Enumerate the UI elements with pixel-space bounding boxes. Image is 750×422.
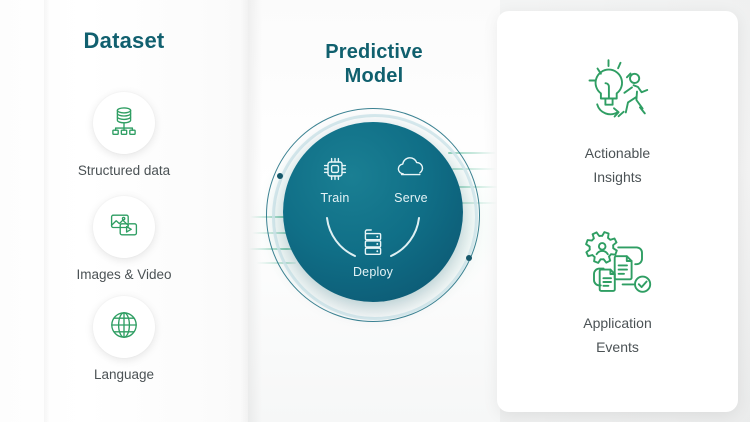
outcome-label-line2: Events <box>497 335 738 359</box>
dataset-item-language[interactable]: Language <box>0 296 248 382</box>
globe-icon <box>107 308 141 347</box>
dataset-item-label: Language <box>0 367 248 382</box>
outcome-label-line1: Application <box>583 315 652 331</box>
dataset-item-structured-data[interactable]: Structured data <box>0 92 248 178</box>
dataset-panel: Dataset Structured data <box>0 0 248 422</box>
outcome-item-label: Actionable Insights <box>497 141 738 189</box>
predictive-model-circle: Train Serve <box>283 122 463 302</box>
lifecycle-stage-deploy[interactable]: Deploy <box>341 226 405 279</box>
predictive-model-title-line2: Model <box>248 64 500 88</box>
outcome-item-application-events[interactable]: Application Events <box>497 219 738 359</box>
cloud-icon <box>394 171 428 188</box>
lifecycle-stage-train[interactable]: Train <box>303 154 367 205</box>
outcome-icon-wrap <box>497 219 738 311</box>
dataset-panel-title: Dataset <box>0 28 248 54</box>
database-icon <box>107 104 141 143</box>
server-stack-icon <box>358 245 388 262</box>
lifecycle-stage-label: Serve <box>379 191 443 205</box>
lifecycle-stage-serve[interactable]: Serve <box>379 154 443 205</box>
dataset-item-icon-badge <box>93 296 155 358</box>
dataset-item-label: Images & Video <box>0 267 248 282</box>
dataset-item-icon-badge <box>93 196 155 258</box>
predictive-model-title: Predictive Model <box>248 40 500 89</box>
cpu-chip-icon <box>320 171 350 188</box>
ring-marker-dot <box>466 255 472 261</box>
lightbulb-running-person-icon <box>575 54 661 137</box>
predictive-model-title-line1: Predictive <box>325 41 423 63</box>
outcome-icon-wrap <box>497 49 738 141</box>
outcome-item-label: Application Events <box>497 311 738 359</box>
dataset-item-icon-badge <box>93 92 155 154</box>
diagram-canvas: Dataset Structured data <box>0 0 750 422</box>
outcome-item-actionable-insights[interactable]: Actionable Insights <box>497 49 738 189</box>
lifecycle-stage-label: Deploy <box>341 265 405 279</box>
dataset-item-images-video[interactable]: Images & Video <box>0 196 248 282</box>
images-video-icon <box>107 208 141 247</box>
lifecycle-stage-label: Train <box>303 191 367 205</box>
outcome-label-line1: Actionable <box>585 145 650 161</box>
outcome-label-line2: Insights <box>497 165 738 189</box>
gear-documents-check-icon <box>572 224 664 307</box>
outcomes-card: Actionable Insights <box>497 11 738 412</box>
dataset-item-label: Structured data <box>0 163 248 178</box>
